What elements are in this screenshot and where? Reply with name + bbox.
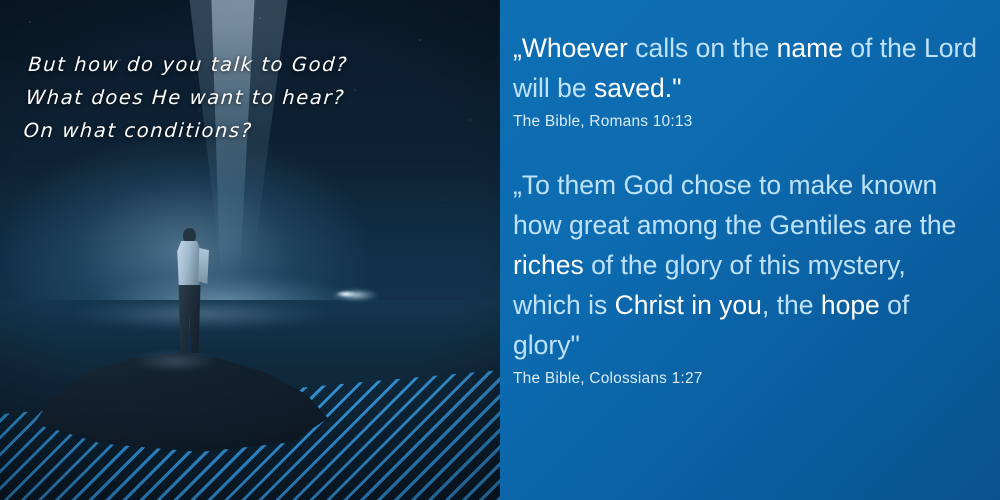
quote-block-1: „Whoever calls on the name of the Lord w… — [513, 28, 978, 131]
quote-source-2: The Bible, Colossians 1:27 — [513, 370, 978, 388]
quote-1-segment-3: name — [777, 33, 851, 63]
quote-block-2: „To them God chose to make known how gre… — [513, 165, 978, 388]
handwritten-line-1: But how do you talk to God? — [27, 48, 479, 81]
quote-2-segment-2: riches — [513, 250, 591, 280]
handwritten-line-3: On what conditions? — [23, 114, 475, 147]
quote-1-segment-1: „Whoever — [513, 33, 635, 63]
quote-2-segment-4: Christ in you — [615, 290, 762, 320]
standing-figure — [162, 228, 216, 356]
slide-root: But how do you talk to God? What does He… — [0, 0, 1000, 500]
quote-1-segment-6: saved." — [594, 73, 681, 103]
quote-source-1: The Bible, Romans 10:13 — [513, 113, 978, 131]
quote-1-segment-5: will be — [513, 73, 594, 103]
handwritten-question-text: But how do you talk to God? What does He… — [23, 48, 480, 147]
distant-lights — [333, 289, 359, 299]
quote-1-segment-2: calls on the — [635, 33, 776, 63]
water-reflection — [40, 300, 420, 370]
quote-2-segment-1: „To them God chose to make known how gre… — [513, 170, 956, 240]
handwritten-line-2: What does He want to hear? — [25, 81, 477, 114]
quote-panel: „Whoever calls on the name of the Lord w… — [500, 0, 1000, 500]
quote-text-1: „Whoever calls on the name of the Lord w… — [513, 28, 978, 108]
quote-1-segment-4: of the Lord — [850, 33, 977, 63]
figure-legs — [177, 285, 202, 353]
quote-2-segment-6: hope — [821, 290, 887, 320]
quote-2-segment-5: , the — [762, 290, 821, 320]
quote-spacer — [513, 135, 978, 165]
figure-head — [183, 228, 196, 243]
quote-text-2: „To them God chose to make known how gre… — [513, 165, 978, 365]
photo-panel: But how do you talk to God? What does He… — [0, 0, 500, 500]
